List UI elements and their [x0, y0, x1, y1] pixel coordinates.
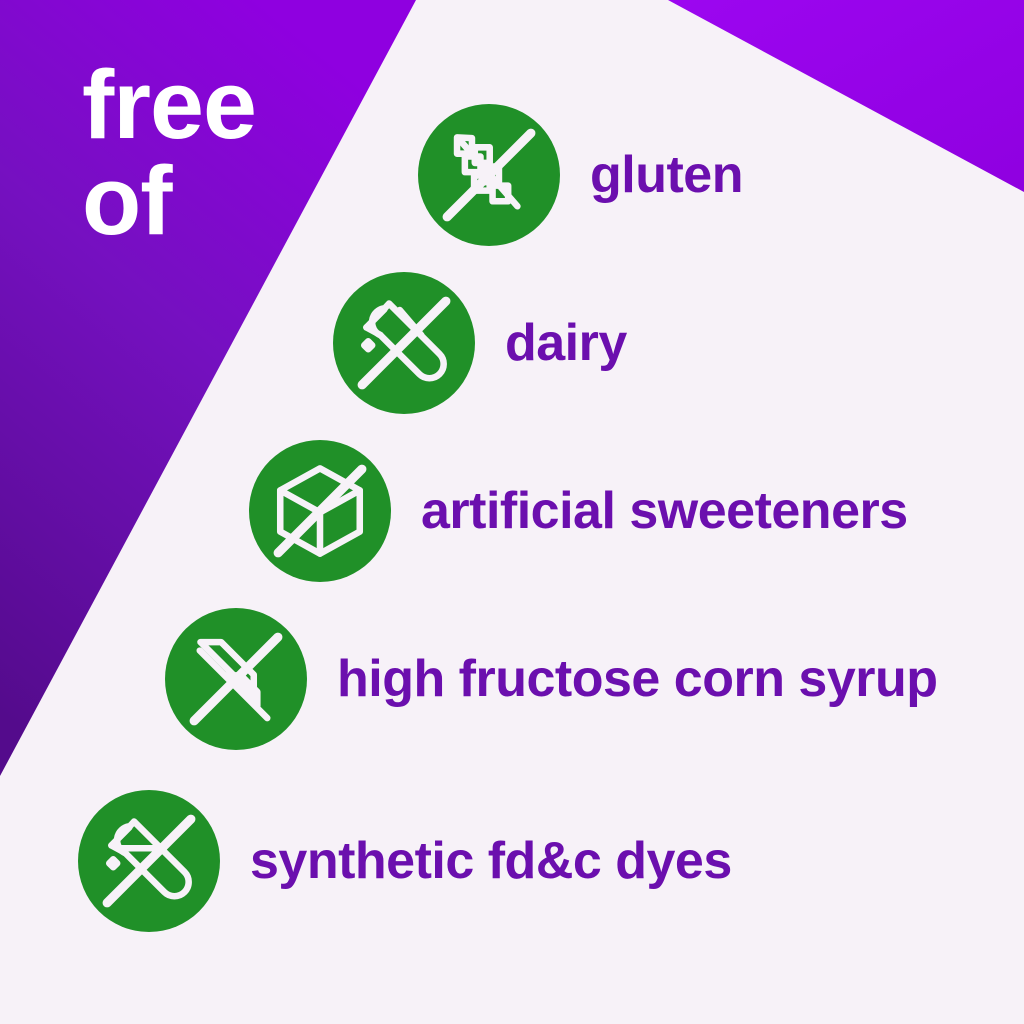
no-test-tube-icon [78, 790, 220, 932]
free-of-item-label: gluten [590, 149, 743, 201]
page-title-line-1: free [82, 60, 412, 150]
free-of-item-artificial-sweeteners: artificial sweeteners [249, 440, 908, 582]
no-sugar-cube-icon [249, 440, 391, 582]
page-title: free of [82, 60, 412, 246]
no-wheat-icon [418, 104, 560, 246]
free-of-item-label: synthetic fd&c dyes [250, 835, 732, 887]
free-of-item-label: dairy [505, 317, 627, 369]
no-corn-leaf-icon [165, 608, 307, 750]
free-of-graphic: free of [0, 0, 1024, 1024]
free-of-item-dairy: dairy [333, 272, 627, 414]
free-of-item-label: high fructose corn syrup [337, 653, 938, 705]
free-of-item-label: artificial sweeteners [421, 485, 908, 537]
free-of-item-gluten: gluten [418, 104, 743, 246]
page-title-line-2: of [82, 156, 412, 246]
no-milk-carton-icon [333, 272, 475, 414]
free-of-item-synthetic-fdc-dyes: synthetic fd&c dyes [78, 790, 732, 932]
free-of-item-high-fructose-corn-syrup: high fructose corn syrup [165, 608, 938, 750]
